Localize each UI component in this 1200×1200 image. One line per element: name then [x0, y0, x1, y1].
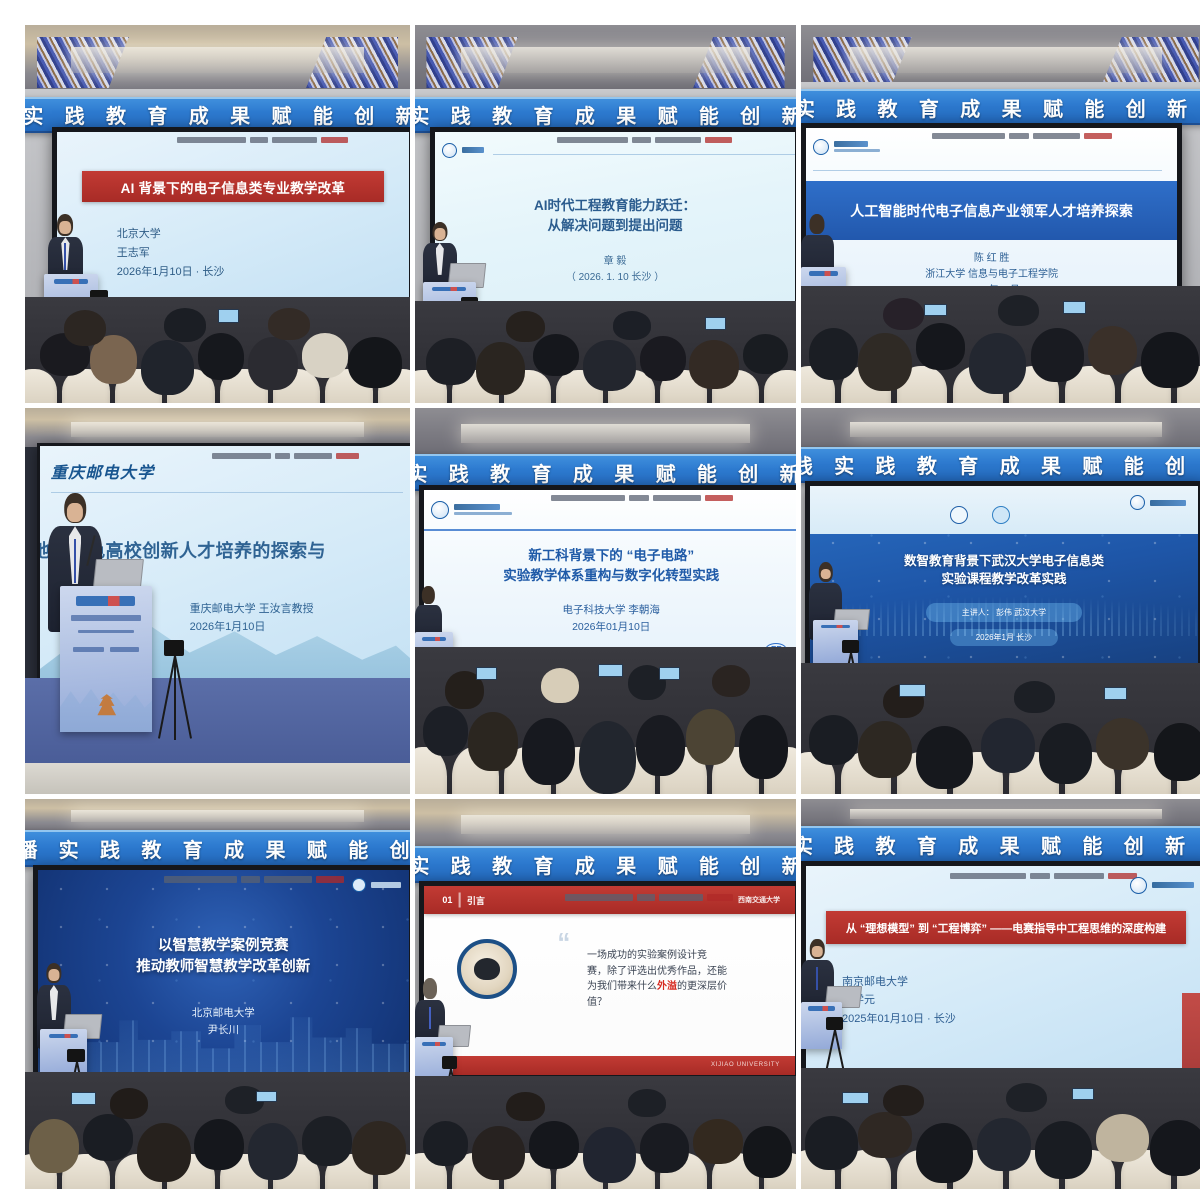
ceiling: [25, 799, 410, 830]
slide: 01 | 引言 西南交通大学 “ 一场成功的实验案例设计竞 赛，除了评选出优秀作…: [424, 886, 795, 1075]
audience-head: [1014, 681, 1055, 712]
audience-head: [640, 1123, 690, 1173]
slide-header-logo: [1130, 877, 1194, 894]
ceiling: [415, 408, 796, 454]
audience-head: [1154, 723, 1200, 781]
audience-head: [693, 1119, 743, 1164]
podium-logo: [422, 637, 446, 641]
audience-head: [541, 668, 579, 703]
slide-date: （ 2026. 1. 10 长沙 ）: [464, 270, 766, 286]
audience: [25, 297, 410, 403]
slide-meta: 电子科技大学 李朝海 2026年01月10日: [454, 602, 769, 636]
meta-line-2: 2026年01月10日: [454, 619, 769, 636]
slide-toolbar: [551, 493, 768, 504]
photo-panel-8[interactable]: 实 践 教 育 成 果 赋 能 创 新 人 才 01 | 引言 西南交通大学 “…: [415, 799, 796, 1189]
slide-meta: 北京大学 王志军 2026年1月10日 · 长沙: [117, 225, 225, 281]
audience-head: [739, 715, 789, 780]
meta-line-1: 电子科技大学 李朝海: [454, 602, 769, 619]
slide: AI 背景下的电子信息类专业教学改革 北京大学 王志军 2026年1月10日 ·…: [57, 132, 409, 311]
audience-head: [164, 308, 206, 342]
quote-line-3-text: 为我们带来什么外溢的更深层价: [587, 981, 727, 992]
audience-head: [1088, 326, 1137, 375]
speaker-shirt: [50, 985, 58, 1020]
meta-line-2: 浙江大学 信息与电子工程学院: [836, 267, 1148, 283]
stage-banner: 播 实 践 教 育 成 果 赋 能 创 新 人: [25, 830, 410, 867]
audience-head: [579, 721, 636, 794]
audience-head: [883, 1085, 924, 1116]
banner-text: 实 践 教 育 成 果 赋 能 创 新 人 才: [415, 850, 796, 879]
ceiling-art-right: [693, 37, 784, 88]
slide-footer-logo: XIJIAO UNIVERSITY: [711, 1062, 780, 1068]
banner-text: 实 践 教 育 成 果 赋 能 创 新 人 才: [415, 100, 796, 129]
audience-head: [248, 1123, 298, 1179]
podium-logo: [809, 271, 838, 275]
audience-head: [141, 340, 195, 395]
audience-head: [302, 1116, 352, 1165]
slide-title-line-1: 以智慧教学案例竞赛: [60, 936, 387, 957]
photo-panel-3[interactable]: 实 践 教 育 成 果 赋 能 创 新 人 才 培 人工智能时代电子信息产业领军…: [801, 25, 1200, 403]
slide-title: 数智教育背景下武汉大学电子信息类 实验课程教学改革实践: [833, 552, 1174, 588]
slide-toolbar: [212, 451, 385, 461]
audience-head: [1150, 1120, 1200, 1176]
audience-head: [583, 1127, 636, 1184]
audience-head: [969, 333, 1026, 394]
podium-logo: [422, 1042, 446, 1046]
slide-header-logo: [431, 501, 512, 519]
slide-title-line-2: 实验课程教学改革实践: [833, 570, 1174, 588]
slide-title-line-1: AI时代工程教育能力跃迁：: [457, 196, 773, 216]
lanyard: [816, 967, 818, 990]
slide-title-line-1: 新工科背景下的 “电子电路”: [446, 546, 776, 566]
audience-head: [809, 328, 858, 380]
ceiling: [801, 408, 1200, 447]
meta-line-2: 2026年1月10日: [190, 618, 314, 637]
audience: [801, 1068, 1200, 1189]
slide-header-logo: [813, 139, 880, 155]
foreground-table: [25, 763, 410, 794]
audience: [801, 286, 1200, 403]
audience-head: [1006, 1083, 1047, 1112]
phone-screen: [1072, 1088, 1095, 1100]
slide-header-logo: [442, 143, 484, 158]
speaker-head: [423, 978, 437, 998]
phone-screen: [256, 1091, 277, 1102]
slide-title: 以智慧教学案例竞赛 推动教师智慧教学改革创新: [60, 936, 387, 978]
audience-head: [858, 721, 911, 779]
slide-title-line-2: 从解决问题到提出问题: [457, 216, 773, 236]
slide: 人工智能时代电子信息产业领军人才培养探索 陈 红 胜 浙江大学 信息与电子工程学…: [806, 128, 1177, 303]
audience-head: [468, 712, 518, 771]
audience-head: [506, 311, 544, 342]
slide-quote: 一场成功的实验案例设计竞 赛，除了评选出优秀作品，还能 为我们带来什么外溢的更深…: [587, 948, 780, 1010]
audience-head: [529, 1121, 579, 1168]
banner-text: 实 践 教 育 成 果 赋 能 创 新 人 才: [801, 830, 1200, 859]
audience: [415, 301, 796, 403]
phone-screen: [476, 667, 497, 679]
slide-toolbar: [932, 131, 1147, 142]
meta-line-3: 2026年1月10日 · 长沙: [117, 263, 225, 282]
competition-emblem-icon: [457, 939, 517, 999]
podium-text-line: [78, 630, 133, 634]
audience-head: [916, 1123, 973, 1183]
ceiling: [25, 408, 410, 447]
speaker-face: [820, 569, 830, 580]
podium-logo: [54, 279, 89, 283]
camera-icon: [826, 1017, 843, 1030]
ceiling: [415, 799, 796, 846]
audience-head: [248, 337, 298, 390]
ceiling-art-right: [1100, 37, 1198, 88]
audience-head: [1096, 718, 1149, 770]
slide-title-line-2: 实验教学体系重构与数字化转型实践: [446, 566, 776, 586]
audience-head: [809, 715, 858, 765]
speaker-face: [812, 946, 822, 957]
phone-screen: [899, 684, 926, 696]
audience-head: [352, 1121, 406, 1175]
slide-title-line-1: 数智教育背景下武汉大学电子信息类: [833, 552, 1174, 570]
quote-line-2: 赛，除了评选出优秀作品，还能: [587, 964, 780, 980]
slide-meta: 北京邮电大学 尹长川: [67, 1005, 379, 1039]
audience-head: [858, 1112, 911, 1158]
quote-line-3: 为我们带来什么外溢的更深层价: [587, 979, 780, 995]
audience: [25, 1072, 410, 1189]
slide-header-logo: [352, 878, 401, 892]
ceiling: [25, 25, 410, 89]
slide: 从 “理想模型” 到 “工程博弈” ——电赛指导中工程思维的深度构建 南京邮电大…: [806, 866, 1200, 1071]
audience-head: [640, 336, 686, 381]
podium-text-line: [71, 615, 141, 621]
audience-head: [522, 718, 575, 785]
podium-text-line: [73, 647, 104, 651]
presentation-screen[interactable]: AI时代工程教育能力跃迁： 从解决问题到提出问题 章 毅 （ 2026. 1. …: [430, 127, 796, 316]
audience-head: [805, 1116, 858, 1169]
section-number: 01: [442, 895, 452, 905]
audience-head: [743, 334, 789, 375]
slide-header-logo: [1130, 495, 1186, 510]
audience-head: [712, 665, 750, 697]
phone-screen: [1063, 301, 1086, 314]
podium-text-line: [110, 647, 140, 651]
camera-icon: [67, 1049, 85, 1063]
photo-panel-1[interactable]: 实 践 教 育 成 果 赋 能 创 新 人 才 AI 背景下的电子信息类专业教学…: [25, 25, 410, 403]
slide-toolbar: [177, 135, 381, 146]
audience-head: [977, 1118, 1030, 1171]
audience-head: [268, 308, 310, 340]
audience-head: [198, 333, 244, 380]
phone-screen: [218, 309, 239, 323]
podium-logo: [808, 1006, 834, 1010]
audience-head: [29, 1119, 79, 1173]
speaker-face: [48, 969, 59, 981]
phone-screen: [842, 1092, 869, 1105]
audience-head: [348, 337, 402, 388]
podium: [60, 586, 152, 733]
slide-footer-bar: XIJIAO UNIVERSITY: [424, 1056, 795, 1075]
phone-screen: [1104, 687, 1127, 699]
audience-head: [613, 311, 651, 340]
ceiling-art-left: [813, 37, 911, 88]
audience-head: [1035, 1121, 1092, 1179]
audience-head: [1096, 1114, 1149, 1162]
audience: [801, 663, 1200, 794]
phone-screen: [598, 664, 623, 676]
photo-panel-7[interactable]: 播 实 践 教 育 成 果 赋 能 创 新 人 以智慧教学案例竞赛 推动教师智慧…: [25, 799, 410, 1189]
banner-text: 播 实 践 教 育 成 果 赋 能 创 新 人: [25, 834, 410, 863]
section-label: 引言: [467, 894, 485, 907]
slide-title-line-2: 推动教师智慧教学改革创新: [60, 957, 387, 978]
audience-head: [1141, 332, 1198, 388]
audience-head: [137, 1123, 191, 1182]
slide-presenter: 章 毅: [464, 254, 766, 270]
audience-head: [302, 333, 348, 377]
meta-line-1: 北京大学: [117, 225, 225, 244]
photo-panel-9[interactable]: 实 践 教 育 成 果 赋 能 创 新 人 才 从 “理想模型” 到 “工程博弈…: [801, 799, 1200, 1189]
camera-icon: [164, 640, 184, 656]
slide-meta: 重庆邮电大学 王汝言教授 2026年1月10日: [190, 600, 314, 637]
slide-side-accent: [1182, 993, 1200, 1071]
quote-mark-icon: “: [557, 935, 570, 951]
ceiling: [415, 25, 796, 89]
slide: AI时代工程教育能力跃迁： 从解决问题到提出问题 章 毅 （ 2026. 1. …: [435, 132, 795, 311]
camera-tripod: [164, 640, 210, 740]
slide: 以智慧教学案例竞赛 推动教师智慧教学改革创新 北京邮电大学 尹长川: [38, 870, 409, 1075]
ceiling-art-right: [306, 37, 398, 88]
audience-head: [981, 718, 1034, 773]
audience-head: [636, 715, 686, 777]
lanyard: [429, 1007, 431, 1029]
audience-head: [423, 1121, 469, 1166]
slide: 新工科背景下的 “电子电路” 实验教学体系重构与数字化转型实践 电子科技大学 李…: [424, 490, 796, 665]
meta-line-2: 王志军: [117, 244, 225, 263]
stage-banner: 践 实 践 教 育 成 果 赋 能 创 新 人 才 培: [801, 447, 1200, 484]
quote-highlight: 外溢: [657, 981, 677, 992]
audience-head: [194, 1119, 244, 1170]
ceiling-art-left: [426, 37, 517, 88]
lanyard: [74, 539, 76, 583]
slide-toolbar: [565, 892, 765, 903]
slide-title: 新工科背景下的 “电子电路” 实验教学体系重构与数字化转型实践: [446, 546, 776, 585]
audience-head: [472, 1126, 525, 1180]
stage-banner: 实 践 教 育 成 果 赋 能 创 新 人 才: [801, 826, 1200, 863]
photo-panel-5[interactable]: 实 践 教 育 成 果 赋 能 创 新 人 才 新工科背景下的 “电子电路” 实…: [415, 408, 796, 794]
banner-text: 实 践 教 育 成 果 赋 能 创 新 人 才 培: [801, 93, 1200, 122]
audience-head: [506, 1092, 544, 1121]
speaker-face: [60, 221, 72, 234]
audience-head: [1039, 723, 1092, 783]
meta-line-1: 陈 红 胜: [836, 251, 1148, 267]
quote-line-4: 值？: [587, 995, 780, 1011]
speaker-face: [67, 503, 83, 522]
audience-head: [64, 310, 106, 346]
phone-screen: [659, 667, 680, 679]
quote-line-1: 一场成功的实验案例设计竞: [587, 948, 780, 964]
audience-head: [426, 338, 476, 385]
ceiling-art-left: [37, 37, 129, 88]
audience: [415, 647, 796, 794]
slide-title-bar: AI 背景下的电子信息类专业教学改革: [82, 171, 385, 201]
slide-title-bar-wrap: 人工智能时代电子信息产业领军人才培养探索: [806, 181, 1177, 241]
slide-title-bar: 从 “理想模型” 到 “工程博弈” ——电赛指导中工程思维的深度构建: [826, 911, 1186, 944]
audience-head: [686, 709, 736, 765]
audience-head: [533, 334, 579, 377]
camera-icon: [442, 1056, 458, 1069]
speaker-face: [434, 228, 445, 240]
stage-banner: 实 践 教 育 成 果 赋 能 创 新 人 才: [415, 846, 796, 883]
audience-head: [583, 340, 636, 391]
meta-line-2: 尹长川: [67, 1022, 379, 1039]
speaker-head: [810, 214, 825, 234]
podium-logo: [821, 625, 850, 629]
photo-collage: 实 践 教 育 成 果 赋 能 创 新 人 才 AI 背景下的电子信息类专业教学…: [0, 0, 1200, 1200]
ceiling: [801, 25, 1200, 89]
audience-head: [110, 1088, 149, 1118]
slide-title-bar: 人工智能时代电子信息产业领军人才培养探索: [850, 201, 1133, 221]
photo-panel-6[interactable]: 践 实 践 教 育 成 果 赋 能 创 新 人 才 培 数智教育背景下武汉大学电…: [801, 408, 1200, 794]
lanyard: [64, 243, 66, 270]
slide-toolbar: [557, 135, 766, 146]
speaker-head: [422, 586, 434, 604]
presentation-screen[interactable]: AI 背景下的电子信息类专业教学改革 北京大学 王志军 2026年1月10日 ·…: [52, 127, 410, 316]
presentation-screen[interactable]: 01 | 引言 西南交通大学 “ 一场成功的实验案例设计竞 赛，除了评选出优秀作…: [419, 881, 796, 1080]
audience-head: [883, 298, 924, 331]
phone-screen: [71, 1092, 96, 1105]
camera-tripod: [826, 1017, 863, 1076]
ceiling: [801, 799, 1200, 826]
phone-screen: [705, 317, 726, 329]
podium-logo: [49, 1034, 79, 1038]
stage-banner: 实 践 教 育 成 果 赋 能 创 新 人 才 培: [801, 89, 1200, 125]
presentation-screen[interactable]: 新工科背景下的 “电子电路” 实验教学体系重构与数字化转型实践 电子科技大学 李…: [419, 485, 796, 670]
slide-presenter-block: 章 毅 （ 2026. 1. 10 长沙 ）: [464, 254, 766, 286]
speaker-shirt: [436, 243, 444, 275]
phone-screen: [924, 304, 947, 317]
podium-logo: [76, 596, 135, 606]
audience-head: [743, 1126, 793, 1178]
audience-head: [689, 340, 739, 389]
meta-line-1: 北京邮电大学: [67, 1005, 379, 1022]
photo-panel-2[interactable]: 实 践 教 育 成 果 赋 能 创 新 人 才 AI时代工程教育能力跃迁： 从解…: [415, 25, 796, 403]
audience-head: [476, 342, 526, 395]
camera-icon: [842, 640, 859, 653]
audience-head: [628, 1089, 666, 1116]
tripod-leg: [174, 656, 176, 740]
tripod-leg: [174, 655, 192, 738]
audience-head: [83, 1114, 133, 1161]
banner-text: 实 践 教 育 成 果 赋 能 创 新 人 才: [415, 458, 796, 487]
audience-head: [998, 295, 1039, 325]
audience-head: [916, 323, 965, 370]
meta-line-1: 重庆邮电大学 王汝言教授: [190, 600, 314, 619]
slide-header-logo: 重庆邮电大学: [51, 459, 155, 486]
podium-logo: [432, 287, 466, 291]
banner-text: 实 践 教 育 成 果 赋 能 创 新 人 才: [25, 100, 410, 129]
audience-head: [1031, 328, 1084, 382]
slide-toolbar: [164, 874, 379, 884]
banner-text: 践 实 践 教 育 成 果 赋 能 创 新 人 才 培: [801, 450, 1200, 479]
audience: [415, 1076, 796, 1189]
photo-panel-4[interactable]: 重庆邮电大学 地方特色高校创新人才培养的探索与 重庆邮电大学 王汝言教授 202…: [25, 408, 410, 794]
audience-head: [858, 333, 911, 392]
audience-head: [916, 726, 973, 789]
presentation-screen[interactable]: 人工智能时代电子信息产业领军人才培养探索 陈 红 胜 浙江大学 信息与电子工程学…: [801, 123, 1182, 308]
audience-head: [423, 706, 469, 756]
slide-title: AI时代工程教育能力跃迁： 从解决问题到提出问题: [457, 196, 773, 235]
